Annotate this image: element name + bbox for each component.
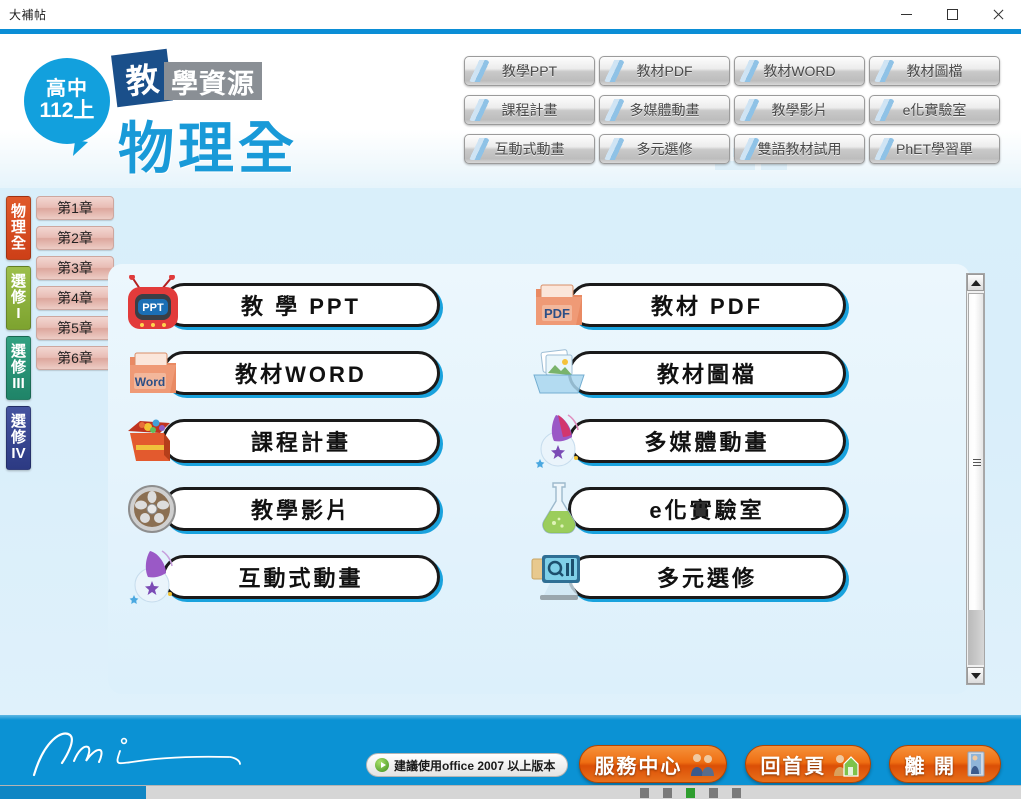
window-title: 大補帖 xyxy=(9,6,47,23)
logo-tag-rest: 學資源 xyxy=(164,62,262,100)
home-label: 回首頁 xyxy=(760,750,826,779)
home-icon xyxy=(832,750,860,778)
slash-icon xyxy=(739,99,759,121)
minimize-icon xyxy=(901,14,912,15)
scrollbar-thumb[interactable] xyxy=(968,293,984,629)
service-center-label: 服務中心 xyxy=(594,750,682,779)
maximize-button[interactable] xyxy=(929,0,975,29)
slash-icon xyxy=(469,99,489,121)
header-button-label: 教材圖檔 xyxy=(907,61,963,81)
resource-button-label: 課程計畫 xyxy=(162,419,440,463)
slash-icon xyxy=(874,138,894,160)
nani-logo: Nani xyxy=(14,721,314,779)
resource-button-multimedia[interactable]: 多媒體動畫 xyxy=(526,417,856,467)
office-note-label: 建議使用office 2007 以上版本 xyxy=(394,757,555,774)
header-button-label: 雙語教材試用 xyxy=(758,139,842,159)
header-button-label: 教材WORD xyxy=(763,61,835,81)
slash-icon xyxy=(874,60,894,82)
sidebar-item-label: IV xyxy=(11,446,25,462)
page-title: 物理全 xyxy=(118,104,298,185)
resource-button-word[interactable]: Word 教材WORD xyxy=(120,349,450,399)
exit-door-icon xyxy=(962,750,990,778)
monitor-chart-icon xyxy=(528,547,590,605)
header-button-elab[interactable]: e化實驗室 xyxy=(869,95,1000,125)
taskbar-tray xyxy=(640,788,741,798)
sidebar-item-elective-1[interactable]: 選 修 I xyxy=(6,266,31,330)
header-button-bilingual[interactable]: 雙語教材試用 xyxy=(734,134,865,164)
close-icon xyxy=(992,9,1004,21)
resource-button-ppt[interactable]: PPT 教 學 PPT xyxy=(120,281,450,331)
sidebar-item-elective-4[interactable]: 選 修 IV xyxy=(6,406,31,470)
header-button-word[interactable]: 教材WORD xyxy=(734,56,865,86)
play-icon xyxy=(375,758,389,772)
svg-text:Word: Word xyxy=(135,375,165,389)
grade-badge-line1: 高中 xyxy=(46,79,88,101)
sidebar-item-label: 修 xyxy=(11,360,26,376)
tv-ppt-icon: PPT xyxy=(122,275,184,333)
flask-icon xyxy=(528,479,590,537)
header-button-label: 課程計畫 xyxy=(502,100,558,120)
header-button-label: 教學PPT xyxy=(502,61,557,81)
resource-button-label: 教材WORD xyxy=(162,351,440,395)
chapter-button-4[interactable]: 第4章 xyxy=(36,286,114,310)
chapter-button-2[interactable]: 第2章 xyxy=(36,226,114,250)
sidebar: 物 理 全 選 修 I 選 修 III 選 修 IV xyxy=(6,196,34,476)
header-button-label: PhET學習單 xyxy=(896,139,973,159)
svg-text:PDF: PDF xyxy=(544,306,570,321)
header: 高中 112上 教 學資源 物理全 教學PPT 教材PDF 教材WORD xyxy=(0,34,1021,188)
header-button-phet[interactable]: PhET學習單 xyxy=(869,134,1000,164)
taskbar-active-window[interactable] xyxy=(0,786,146,799)
footer-actions: 服務中心 回首頁 離 開 xyxy=(579,745,1001,783)
service-people-icon xyxy=(688,750,716,778)
magic-hat-icon xyxy=(122,547,184,605)
resource-button-video[interactable]: 教學影片 xyxy=(120,485,450,535)
grip-icon xyxy=(973,457,981,468)
resource-button-interactive[interactable]: 互動式動畫 xyxy=(120,553,450,603)
resource-button-pdf[interactable]: PDF 教材 PDF xyxy=(526,281,856,331)
title-bar: 大補帖 xyxy=(0,0,1021,29)
exit-button[interactable]: 離 開 xyxy=(889,745,1001,783)
resource-button-label: 教材 PDF xyxy=(568,283,846,327)
resource-button-label: 互動式動畫 xyxy=(162,555,440,599)
sidebar-item-label: III xyxy=(12,376,25,392)
scrollbar-track-lower[interactable] xyxy=(968,610,984,665)
nani-swash-icon xyxy=(14,721,314,779)
slash-icon xyxy=(739,60,759,82)
brand-logo: 高中 112上 教 學資源 物理全 xyxy=(18,46,318,186)
header-button-pdf[interactable]: 教材PDF xyxy=(599,56,730,86)
sidebar-item-label: 選 xyxy=(11,344,26,360)
resource-button-label: 多媒體動畫 xyxy=(568,419,846,463)
svg-text:PPT: PPT xyxy=(142,302,164,314)
grade-badge: 高中 112上 xyxy=(24,58,110,144)
word-folder-icon: Word xyxy=(122,343,184,401)
image-tray-icon xyxy=(528,343,590,401)
header-button-label: 多媒體動畫 xyxy=(630,100,700,120)
header-button-interactive[interactable]: 互動式動畫 xyxy=(464,134,595,164)
sidebar-item-label: 選 xyxy=(11,414,26,430)
sidebar-item-elective-3[interactable]: 選 修 III xyxy=(6,336,31,400)
resource-button-electives[interactable]: 多元選修 xyxy=(526,553,856,603)
exit-label: 離 開 xyxy=(904,750,956,779)
service-center-button[interactable]: 服務中心 xyxy=(579,745,727,783)
slash-icon xyxy=(739,138,759,160)
sidebar-item-label: 全 xyxy=(11,236,26,252)
slash-icon xyxy=(604,138,624,160)
slash-icon xyxy=(469,138,489,160)
maximize-icon xyxy=(947,9,958,20)
resource-button-grid: PPT 教 學 PPT PDF 教材 PDF xyxy=(120,274,950,684)
header-button-video[interactable]: 教學影片 xyxy=(734,95,865,125)
header-button-label: 互動式動畫 xyxy=(495,139,565,159)
chapter-list: 第1章 第2章 第3章 第4章 第5章 第6章 xyxy=(36,196,114,376)
scroll-down-button[interactable] xyxy=(967,667,984,684)
slash-icon xyxy=(604,60,624,82)
scroll-up-button[interactable] xyxy=(967,274,984,291)
chapter-button-6[interactable]: 第6章 xyxy=(36,346,114,370)
main-stage: 物 理 全 選 修 I 選 修 III 選 修 IV 第1章 第2章 xyxy=(0,188,1021,715)
chevron-up-icon xyxy=(971,280,981,286)
chapter-button-5[interactable]: 第5章 xyxy=(36,316,114,340)
sidebar-item-label: I xyxy=(16,306,20,322)
resource-button-label: e化實驗室 xyxy=(568,487,846,531)
header-button-multimedia[interactable]: 多媒體動畫 xyxy=(599,95,730,125)
magic-hat-icon xyxy=(528,411,590,469)
home-button[interactable]: 回首頁 xyxy=(745,745,871,783)
film-reel-icon xyxy=(122,479,184,537)
header-button-ppt[interactable]: 教學PPT xyxy=(464,56,595,86)
slash-icon xyxy=(469,60,489,82)
header-button-syllabus[interactable]: 課程計畫 xyxy=(464,95,595,125)
header-button-label: e化實驗室 xyxy=(903,100,967,120)
header-button-label: 教材PDF xyxy=(637,61,693,81)
header-button-images[interactable]: 教材圖檔 xyxy=(869,56,1000,86)
os-taskbar xyxy=(0,785,1021,799)
resource-button-label: 多元選修 xyxy=(568,555,846,599)
chapter-button-3[interactable]: 第3章 xyxy=(36,256,114,280)
resource-button-label: 教 學 PPT xyxy=(162,283,440,327)
sidebar-item-label: 物 xyxy=(11,204,26,220)
sidebar-item-label: 選 xyxy=(11,274,26,290)
application-window: 大補帖 高中 112上 教 學資源 物理全 教學 xyxy=(0,0,1021,799)
resource-button-elab[interactable]: e化實驗室 xyxy=(526,485,856,535)
office-version-note: 建議使用office 2007 以上版本 xyxy=(366,753,568,777)
sidebar-item-label: 理 xyxy=(11,220,26,236)
resource-button-label: 教學影片 xyxy=(162,487,440,531)
resource-button-syllabus[interactable]: 課程計畫 xyxy=(120,417,450,467)
minimize-button[interactable] xyxy=(883,0,929,29)
header-category-grid: 教學PPT 教材PDF 教材WORD 教材圖檔 課程計畫 多媒體動畫 xyxy=(464,56,1002,164)
header-button-label: 教學影片 xyxy=(772,100,828,120)
treasure-box-icon xyxy=(122,411,184,469)
header-button-label: 多元選修 xyxy=(637,139,693,159)
resource-button-images[interactable]: 教材圖檔 xyxy=(526,349,856,399)
sidebar-item-physics-full[interactable]: 物 理 全 xyxy=(6,196,31,260)
sidebar-item-label: 修 xyxy=(11,430,26,446)
resource-button-label: 教材圖檔 xyxy=(568,351,846,395)
pdf-folder-icon: PDF xyxy=(528,275,590,333)
content-scrollbar[interactable] xyxy=(966,273,985,685)
slash-icon xyxy=(874,99,894,121)
chapter-button-1[interactable]: 第1章 xyxy=(36,196,114,220)
header-button-electives[interactable]: 多元選修 xyxy=(599,134,730,164)
grade-badge-line2: 112上 xyxy=(40,100,95,123)
close-button[interactable] xyxy=(975,0,1021,29)
sidebar-item-label: 修 xyxy=(11,290,26,306)
chevron-down-icon xyxy=(971,673,981,679)
slash-icon xyxy=(604,99,624,121)
